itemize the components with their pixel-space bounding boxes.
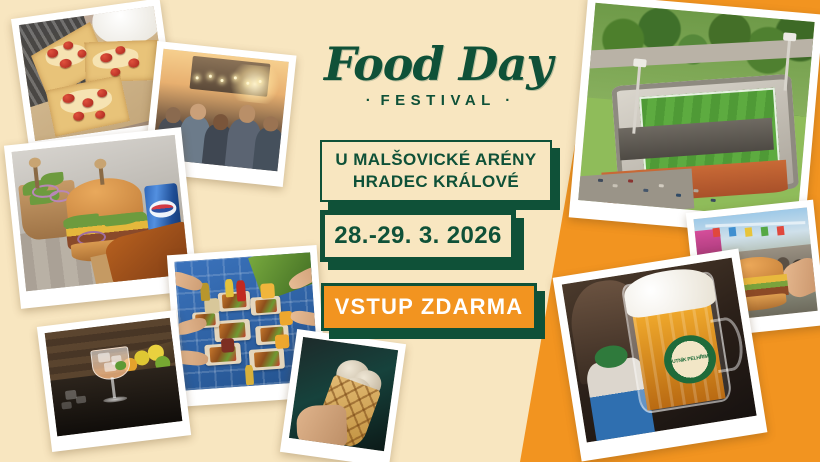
title-bullet-right: ·	[505, 92, 510, 109]
photo-cocktail	[37, 310, 191, 452]
event-date: 28.-29. 3. 2026	[334, 222, 501, 250]
photo-beer: POUTNÍK PELHŘIMOV	[553, 248, 768, 461]
cta-label: VSTUP ZDARMA	[335, 294, 524, 320]
title-script-line: Food Day	[318, 42, 558, 86]
venue-box: U MALŠOVICKÉ ARÉNY HRADEC KRÁLOVÉ	[320, 140, 552, 202]
poster-canvas: POUTNÍK PELHŘIMOV Food Day · FESTIVAL · …	[0, 0, 820, 462]
festival-title-block: Food Day · FESTIVAL ·	[318, 42, 558, 109]
title-sub-text: FESTIVAL	[380, 92, 495, 109]
title-bullet-left: ·	[366, 92, 371, 109]
venue-line-1: U MALŠOVICKÉ ARÉNY	[335, 149, 536, 171]
title-sub-line: · FESTIVAL ·	[318, 92, 558, 109]
venue-line-2: HRADEC KRÁLOVÉ	[353, 171, 519, 193]
photo-ice-cream	[280, 329, 406, 462]
venue-box-face: U MALŠOVICKÉ ARÉNY HRADEC KRÁLOVÉ	[320, 140, 552, 202]
date-box-face: 28.-29. 3. 2026	[320, 210, 516, 262]
cta-face[interactable]: VSTUP ZDARMA	[321, 283, 537, 331]
date-box: 28.-29. 3. 2026	[320, 210, 516, 262]
free-entry-cta[interactable]: VSTUP ZDARMA	[321, 283, 537, 331]
